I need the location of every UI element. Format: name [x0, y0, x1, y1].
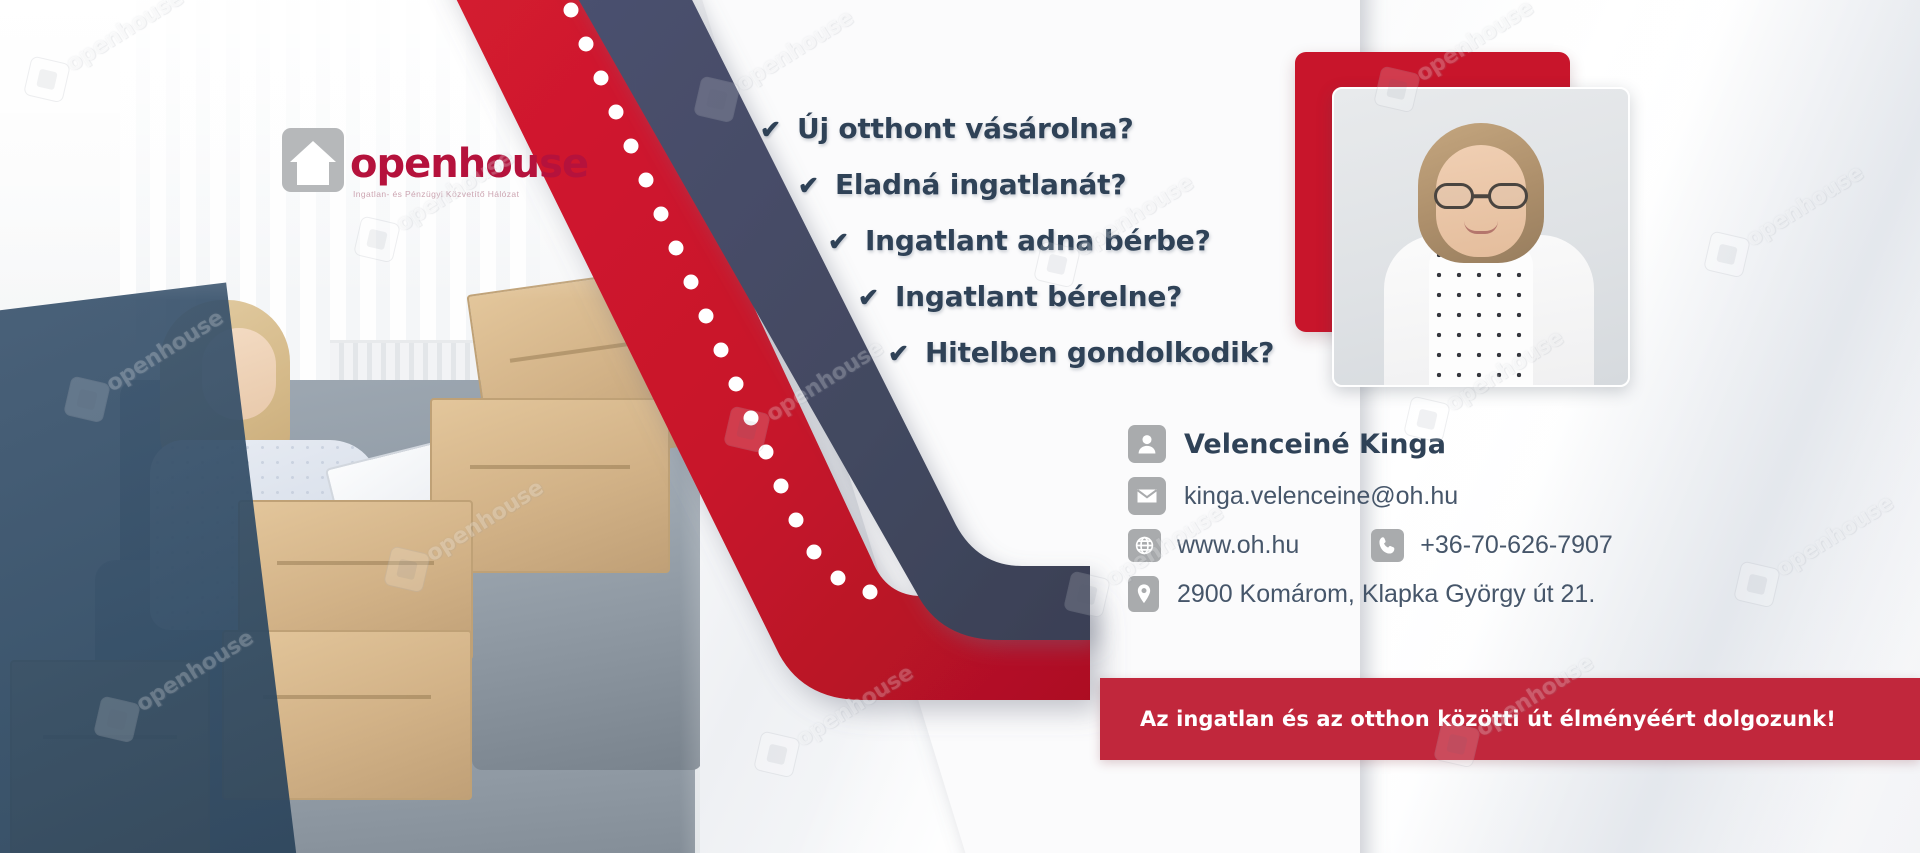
envelope-icon: [1128, 477, 1166, 515]
agent-portrait-block: [1295, 52, 1605, 392]
glasses-bridge: [1473, 194, 1489, 198]
checklist-item-label: Ingatlant adna bérbe?: [865, 224, 1211, 257]
checklist-item: ✔ Ingatlant adna bérbe?: [828, 224, 1320, 257]
checklist-item: ✔ Eladná ingatlanát?: [798, 168, 1320, 201]
checklist-item-label: Hitelben gondolkodik?: [925, 336, 1274, 369]
tagline-banner: Az ingatlan és az otthon közötti út élmé…: [1100, 678, 1920, 760]
glasses-lens-left: [1434, 183, 1474, 209]
agent-name: Velenceiné Kinga: [1184, 429, 1446, 460]
contact-row-email[interactable]: kinga.velenceine@oh.hu: [1128, 477, 1768, 515]
checklist-item-label: Eladná ingatlanát?: [835, 168, 1126, 201]
contact-row-name: Velenceiné Kinga: [1128, 425, 1768, 463]
checklist-item-label: Ingatlant bérelne?: [895, 280, 1182, 313]
globe-icon: [1128, 529, 1161, 562]
contact-row-address: 2900 Komárom, Klapka György út 21.: [1128, 576, 1768, 612]
agent-contact-block: Velenceiné Kinga kinga.velenceine@oh.hu: [1128, 425, 1768, 626]
logo-wordmark: openhouse: [350, 144, 588, 184]
checklist-item: ✔ Új otthont vásárolna?: [760, 112, 1320, 145]
contact-row-web-phone: www.oh.hu +36-70-626-7907: [1128, 529, 1768, 562]
agent-phone: +36-70-626-7907: [1420, 531, 1613, 560]
contact-phone-group[interactable]: +36-70-626-7907: [1371, 529, 1613, 562]
openhouse-logo[interactable]: openhouse Ingatlan- és Pénzügyi Közvetít…: [282, 128, 588, 199]
checklist-item: ✔ Hitelben gondolkodik?: [888, 336, 1320, 369]
agent-photo: [1332, 87, 1630, 387]
glasses-lens-right: [1488, 183, 1528, 209]
location-pin-icon: [1128, 576, 1159, 612]
check-icon: ✔: [798, 174, 819, 199]
checklist-item: ✔ Ingatlant bérelne?: [858, 280, 1320, 313]
check-icon: ✔: [858, 286, 879, 311]
logo-tagline: Ingatlan- és Pénzügyi Közvetítő Hálózat: [353, 189, 588, 199]
check-icon: ✔: [888, 342, 909, 367]
contact-website-group[interactable]: www.oh.hu: [1128, 529, 1299, 562]
service-checklist: ✔ Új otthont vásárolna? ✔ Eladná ingatla…: [760, 112, 1320, 392]
portrait-blouse: [1429, 245, 1533, 385]
portrait-glasses: [1434, 183, 1528, 209]
agent-address: 2900 Komárom, Klapka György út 21.: [1177, 580, 1595, 609]
checklist-item-label: Új otthont vásárolna?: [797, 112, 1134, 145]
check-icon: ✔: [760, 118, 781, 143]
house-logo-icon: [282, 128, 344, 192]
person-icon: [1128, 425, 1166, 463]
check-icon: ✔: [828, 230, 849, 255]
phone-icon: [1371, 529, 1404, 562]
agent-email: kinga.velenceine@oh.hu: [1184, 482, 1458, 511]
agent-website: www.oh.hu: [1177, 531, 1299, 560]
tagline-text: Az ingatlan és az otthon közötti út élmé…: [1140, 707, 1836, 731]
openhouse-agent-banner: openhouse Ingatlan- és Pénzügyi Közvetít…: [0, 0, 1920, 853]
